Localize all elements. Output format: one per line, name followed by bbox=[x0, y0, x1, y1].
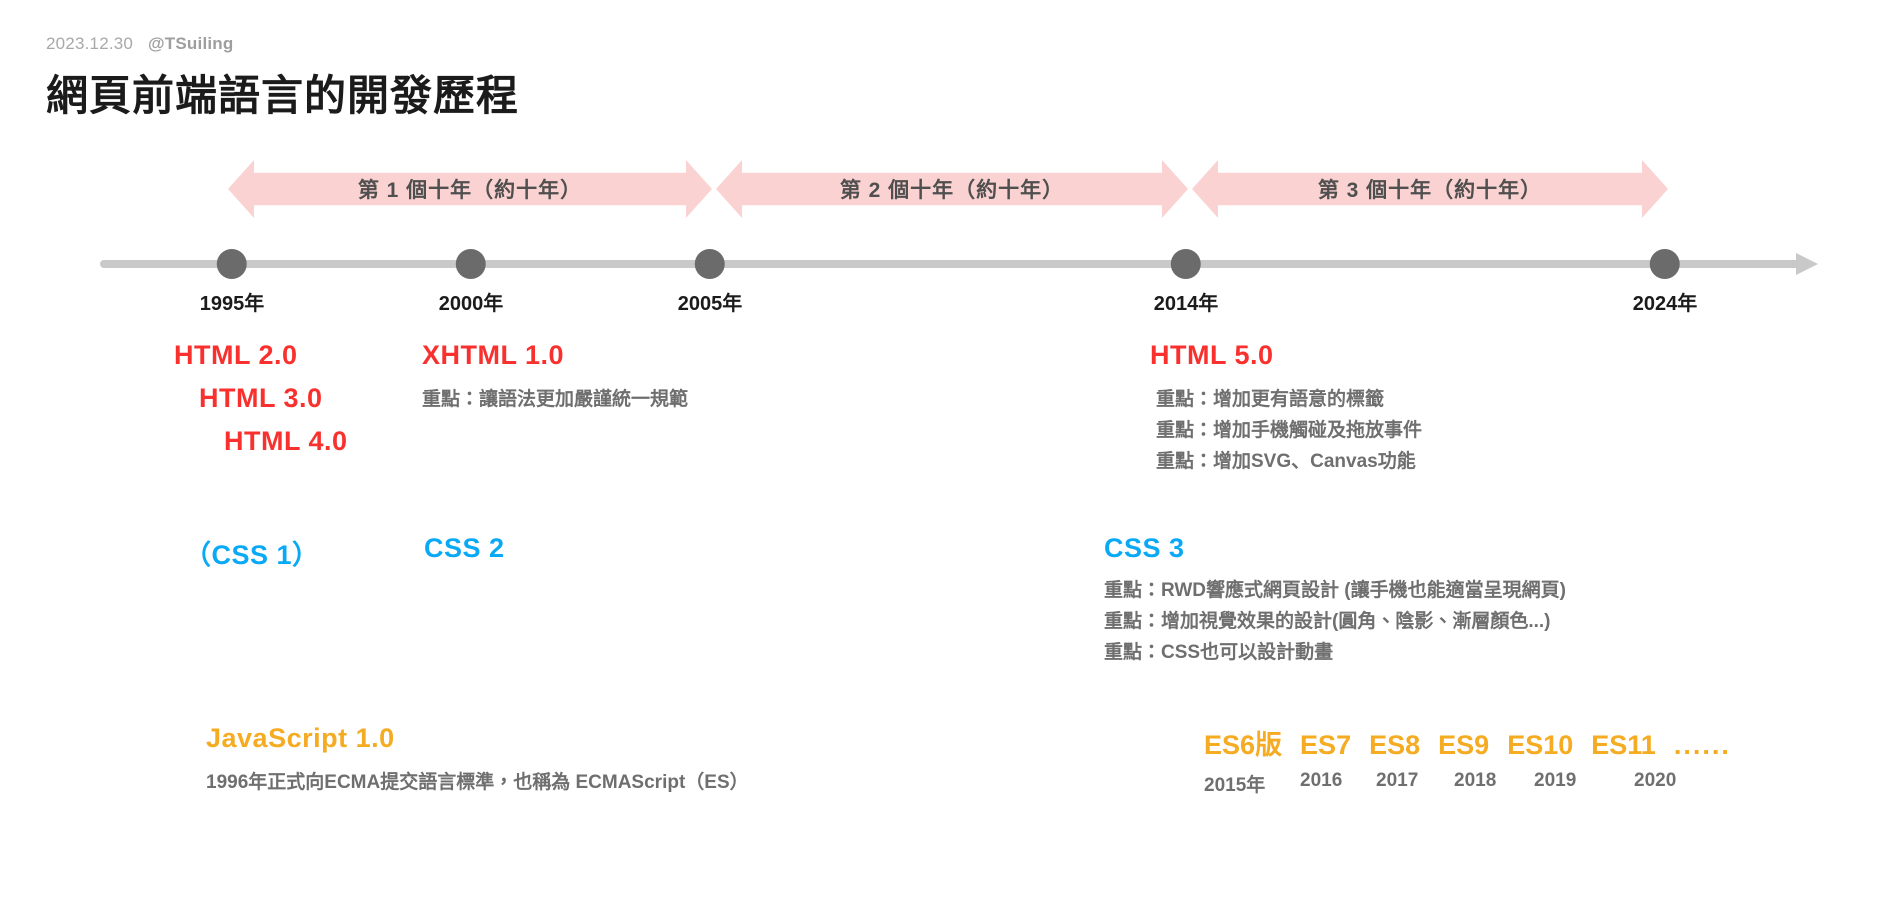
page-title: 網頁前端語言的開發歷程 bbox=[46, 62, 519, 123]
timeline-tick-2005: 2005年 bbox=[678, 240, 743, 316]
css1-heading: （CSS 1） bbox=[184, 533, 320, 572]
timeline-year-label: 2000年 bbox=[439, 287, 504, 316]
timeline-tick-2024: 2024年 bbox=[1633, 240, 1698, 316]
css1-block: （CSS 1） bbox=[184, 533, 320, 572]
decade-label-3: 第 3 個十年（約十年） bbox=[1318, 174, 1542, 204]
timeline-dot-icon bbox=[1171, 249, 1201, 279]
page-header: 2023.12.30 @TSuiling 網頁前端語言的開發歷程 bbox=[46, 34, 519, 123]
html5-note-2: 重點：增加手機觸碰及拖放事件 bbox=[1150, 416, 1422, 447]
timeline-year-label: 2014年 bbox=[1154, 287, 1219, 316]
xhtml-heading: XHTML 1.0 bbox=[422, 340, 688, 371]
timeline-year-label: 2024年 bbox=[1633, 287, 1698, 316]
arrow-right-icon bbox=[1796, 253, 1818, 275]
timeline-line bbox=[100, 260, 1800, 268]
css2-heading: CSS 2 bbox=[424, 533, 505, 564]
timeline-dot-icon bbox=[456, 249, 486, 279]
javascript-note: 1996年正式向ECMA提交語言標準，也稱為 ECMAScript（ES） bbox=[206, 768, 749, 799]
decade-arrow-3: 第 3 個十年（約十年） bbox=[1192, 160, 1668, 218]
es-year-2020: 2020 bbox=[1634, 770, 1676, 797]
javascript-heading: JavaScript 1.0 bbox=[206, 723, 749, 754]
timeline-year-label: 2005年 bbox=[678, 287, 743, 316]
timeline-year-label: 1995年 bbox=[200, 287, 265, 316]
css3-note-2: 重點：增加視覺效果的設計(圓角、陰影、漸層顏色...) bbox=[1104, 607, 1566, 638]
css3-note-3: 重點：CSS也可以設計動畫 bbox=[1104, 638, 1566, 669]
html-early-block: HTML 2.0 HTML 3.0 HTML 4.0 bbox=[174, 340, 348, 457]
decade-arrow-2: 第 2 個十年（約十年） bbox=[716, 160, 1188, 218]
es-version-7: ES7 bbox=[1300, 730, 1351, 761]
decade-arrow-group: 第 1 個十年（約十年） 第 2 個十年（約十年） 第 3 個十年（約十年） bbox=[0, 160, 1900, 218]
es-version-10: ES10 bbox=[1507, 730, 1573, 761]
html-version-3: HTML 3.0 bbox=[174, 383, 348, 414]
header-date: 2023.12.30 bbox=[46, 34, 133, 53]
html-version-2: HTML 2.0 bbox=[174, 340, 348, 371]
html5-note-1: 重點：增加更有語意的標籤 bbox=[1150, 385, 1422, 416]
es-year-2017: 2017 bbox=[1376, 770, 1454, 797]
decade-arrow-1: 第 1 個十年（約十年） bbox=[228, 160, 712, 218]
es-version-11: ES11 bbox=[1591, 730, 1656, 761]
header-meta: 2023.12.30 @TSuiling bbox=[46, 34, 519, 54]
css2-block: CSS 2 bbox=[424, 533, 505, 564]
decade-label-2: 第 2 個十年（約十年） bbox=[840, 174, 1064, 204]
html5-heading: HTML 5.0 bbox=[1150, 340, 1422, 371]
html5-note-3: 重點：增加SVG、Canvas功能 bbox=[1150, 447, 1422, 478]
timeline-dot-icon bbox=[217, 249, 247, 279]
timeline-tick-1995: 1995年 bbox=[200, 240, 265, 316]
timeline-tick-2014: 2014年 bbox=[1154, 240, 1219, 316]
css3-note-1: 重點：RWD響應式網頁設計 (讓手機也能適當呈現網頁) bbox=[1104, 576, 1566, 607]
html5-block: HTML 5.0 重點：增加更有語意的標籤 重點：增加手機觸碰及拖放事件 重點：… bbox=[1150, 340, 1422, 477]
es-year-2019: 2019 bbox=[1534, 770, 1634, 797]
timeline-axis: 1995年 2000年 2005年 2014年 2024年 bbox=[0, 240, 1900, 310]
es-year-2018: 2018 bbox=[1454, 770, 1534, 797]
timeline-dot-icon bbox=[1650, 249, 1680, 279]
ecmascript-year-row: 2015年 2016 2017 2018 2019 2020 bbox=[1204, 770, 1731, 797]
es-ellipsis: ...... bbox=[1674, 730, 1731, 761]
es-year-2016: 2016 bbox=[1300, 770, 1376, 797]
es-version-6: ES6版 bbox=[1204, 723, 1282, 762]
xhtml-note-1: 重點：讓語法更加嚴謹統一規範 bbox=[422, 385, 688, 416]
es-version-8: ES8 bbox=[1369, 730, 1420, 761]
decade-label-1: 第 1 個十年（約十年） bbox=[358, 174, 582, 204]
es-year-2015: 2015年 bbox=[1204, 770, 1300, 797]
timeline-dot-icon bbox=[695, 249, 725, 279]
ecmascript-block: ES6版 ES7 ES8 ES9 ES10 ES11 ...... 2015年 … bbox=[1204, 723, 1731, 797]
css3-block: CSS 3 重點：RWD響應式網頁設計 (讓手機也能適當呈現網頁) 重點：增加視… bbox=[1104, 533, 1566, 668]
css3-heading: CSS 3 bbox=[1104, 533, 1566, 564]
javascript-block: JavaScript 1.0 1996年正式向ECMA提交語言標準，也稱為 EC… bbox=[206, 723, 749, 799]
html-version-4: HTML 4.0 bbox=[174, 426, 348, 457]
timeline-tick-2000: 2000年 bbox=[439, 240, 504, 316]
ecmascript-version-row: ES6版 ES7 ES8 ES9 ES10 ES11 ...... bbox=[1204, 723, 1731, 762]
header-handle: @TSuiling bbox=[148, 34, 233, 53]
xhtml-block: XHTML 1.0 重點：讓語法更加嚴謹統一規範 bbox=[422, 340, 688, 416]
es-version-9: ES9 bbox=[1438, 730, 1489, 761]
